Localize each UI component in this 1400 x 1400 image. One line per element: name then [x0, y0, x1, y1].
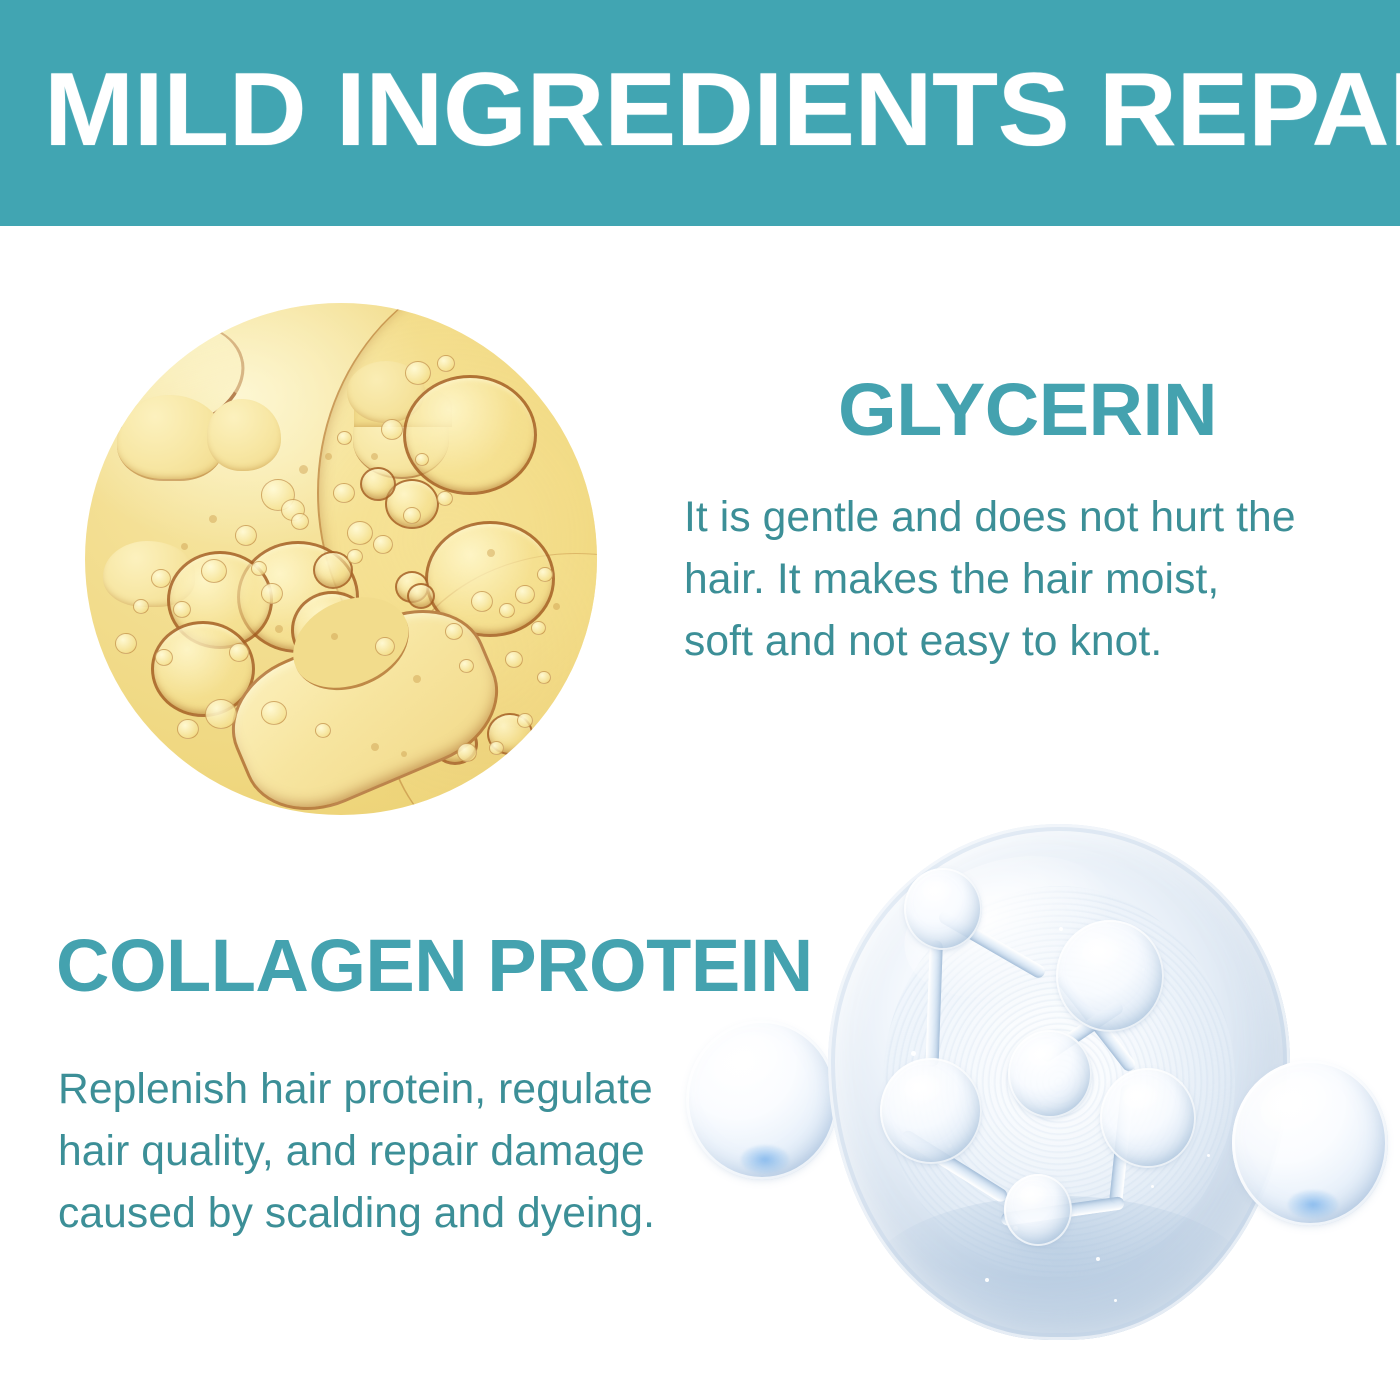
collagen-molecule-image: [660, 812, 1400, 1352]
molecule-atom: [880, 1058, 982, 1164]
header-banner: MILD INGREDIENTS REPAIR HAIR: [0, 0, 1400, 226]
oil-bubble-small: [173, 601, 191, 618]
oil-bubble-small: [235, 525, 257, 546]
oil-bubble-small: [261, 701, 287, 725]
oil-bubble-small: [375, 637, 395, 656]
oil-speck: [487, 549, 495, 557]
oil-bubble-small: [517, 713, 533, 728]
oil-bubble-small: [229, 643, 249, 662]
satellite-bubble-left: [686, 1020, 838, 1180]
collagen-description-line: hair quality, and repair damage: [58, 1120, 692, 1182]
oil-bubble-small: [133, 599, 149, 614]
oil-bubble-small: [261, 583, 283, 604]
bubble-gloss: [707, 1026, 796, 1101]
oil-bubble-small: [347, 521, 373, 545]
oil-bubble-small: [205, 699, 237, 729]
infographic-page: MILD INGREDIENTS REPAIR HAIR: [0, 0, 1400, 1400]
oil-bubble-small: [537, 567, 553, 582]
bubble-blue-accent: [741, 1145, 790, 1174]
molecule-atom: [904, 868, 982, 950]
oil-bubble-small: [115, 633, 137, 654]
oil-bubble-small: [291, 513, 309, 530]
oil-bubble-small: [381, 419, 403, 440]
molecule-atom: [1008, 1030, 1092, 1118]
oil-bubble-small: [505, 651, 523, 668]
glycerin-heading: GLYCERIN: [838, 372, 1217, 448]
molecule-atom: [1056, 920, 1164, 1032]
oil-bubble-small: [437, 355, 455, 372]
oil-speck: [325, 453, 332, 460]
glycerin-description-line: hair. It makes the hair moist,: [684, 548, 1337, 610]
oil-speck: [331, 633, 338, 640]
oil-bubble: [407, 583, 435, 609]
page-title: MILD INGREDIENTS REPAIR HAIR: [44, 58, 1400, 162]
oil-speck: [181, 543, 188, 550]
oil-speck: [371, 453, 378, 460]
oil-bubble-small: [515, 585, 535, 604]
oil-bubble-small: [457, 743, 477, 762]
glycerin-oil-image: [85, 303, 597, 815]
oil-bubble: [360, 467, 396, 501]
oil-bubble-small: [405, 361, 431, 385]
main-bubble: [828, 824, 1290, 1340]
oil-bubble-small: [489, 741, 504, 755]
oil-bubble: [403, 375, 537, 495]
oil-bubble-small: [315, 723, 331, 738]
oil-bubble-small: [251, 561, 267, 576]
oil-bubble-small: [537, 671, 551, 684]
oil-bubble-small: [155, 649, 173, 666]
oil-bubble-small: [373, 535, 393, 554]
glycerin-description-line: It is gentle and does not hurt the: [684, 486, 1337, 548]
oil-speck: [275, 625, 283, 633]
collagen-description-line: Replenish hair protein, regulate: [58, 1058, 692, 1120]
bubble-gloss: [1253, 1066, 1345, 1144]
collagen-description: Replenish hair protein, regulate hair qu…: [58, 1058, 692, 1244]
molecule-atom: [1100, 1068, 1196, 1168]
oil-bubble-small: [151, 569, 171, 588]
oil-bubble-small: [531, 621, 546, 635]
oil-bubble-small: [177, 719, 199, 739]
glycerin-description: It is gentle and does not hurt the hair.…: [684, 486, 1337, 672]
oil-bubble-small: [347, 549, 363, 564]
oil-bubble-small: [415, 453, 429, 466]
oil-bubble-small: [333, 483, 355, 503]
satellite-bubble-right: [1232, 1060, 1388, 1226]
oil-bubble-small: [459, 659, 474, 673]
collagen-description-line: caused by scalding and dyeing.: [58, 1182, 692, 1244]
oil-speck: [413, 675, 421, 683]
oil-speck: [553, 603, 560, 610]
oil-bubble-small: [337, 431, 352, 445]
oil-bubble-small: [499, 603, 515, 618]
glycerin-description-line: soft and not easy to knot.: [684, 610, 1337, 672]
oil-speck: [299, 465, 308, 474]
oil-bubble-small: [437, 491, 453, 506]
oil-bubble-small: [471, 591, 493, 612]
oil-speck: [401, 751, 407, 757]
oil-speck: [209, 515, 217, 523]
oil-bubble-small: [403, 507, 421, 524]
molecule-atom: [1004, 1174, 1072, 1246]
oil-bubble-small: [201, 559, 227, 583]
bubble-blue-accent: [1288, 1190, 1338, 1220]
oil-speck: [371, 743, 379, 751]
oil-bubble-small: [445, 623, 463, 640]
